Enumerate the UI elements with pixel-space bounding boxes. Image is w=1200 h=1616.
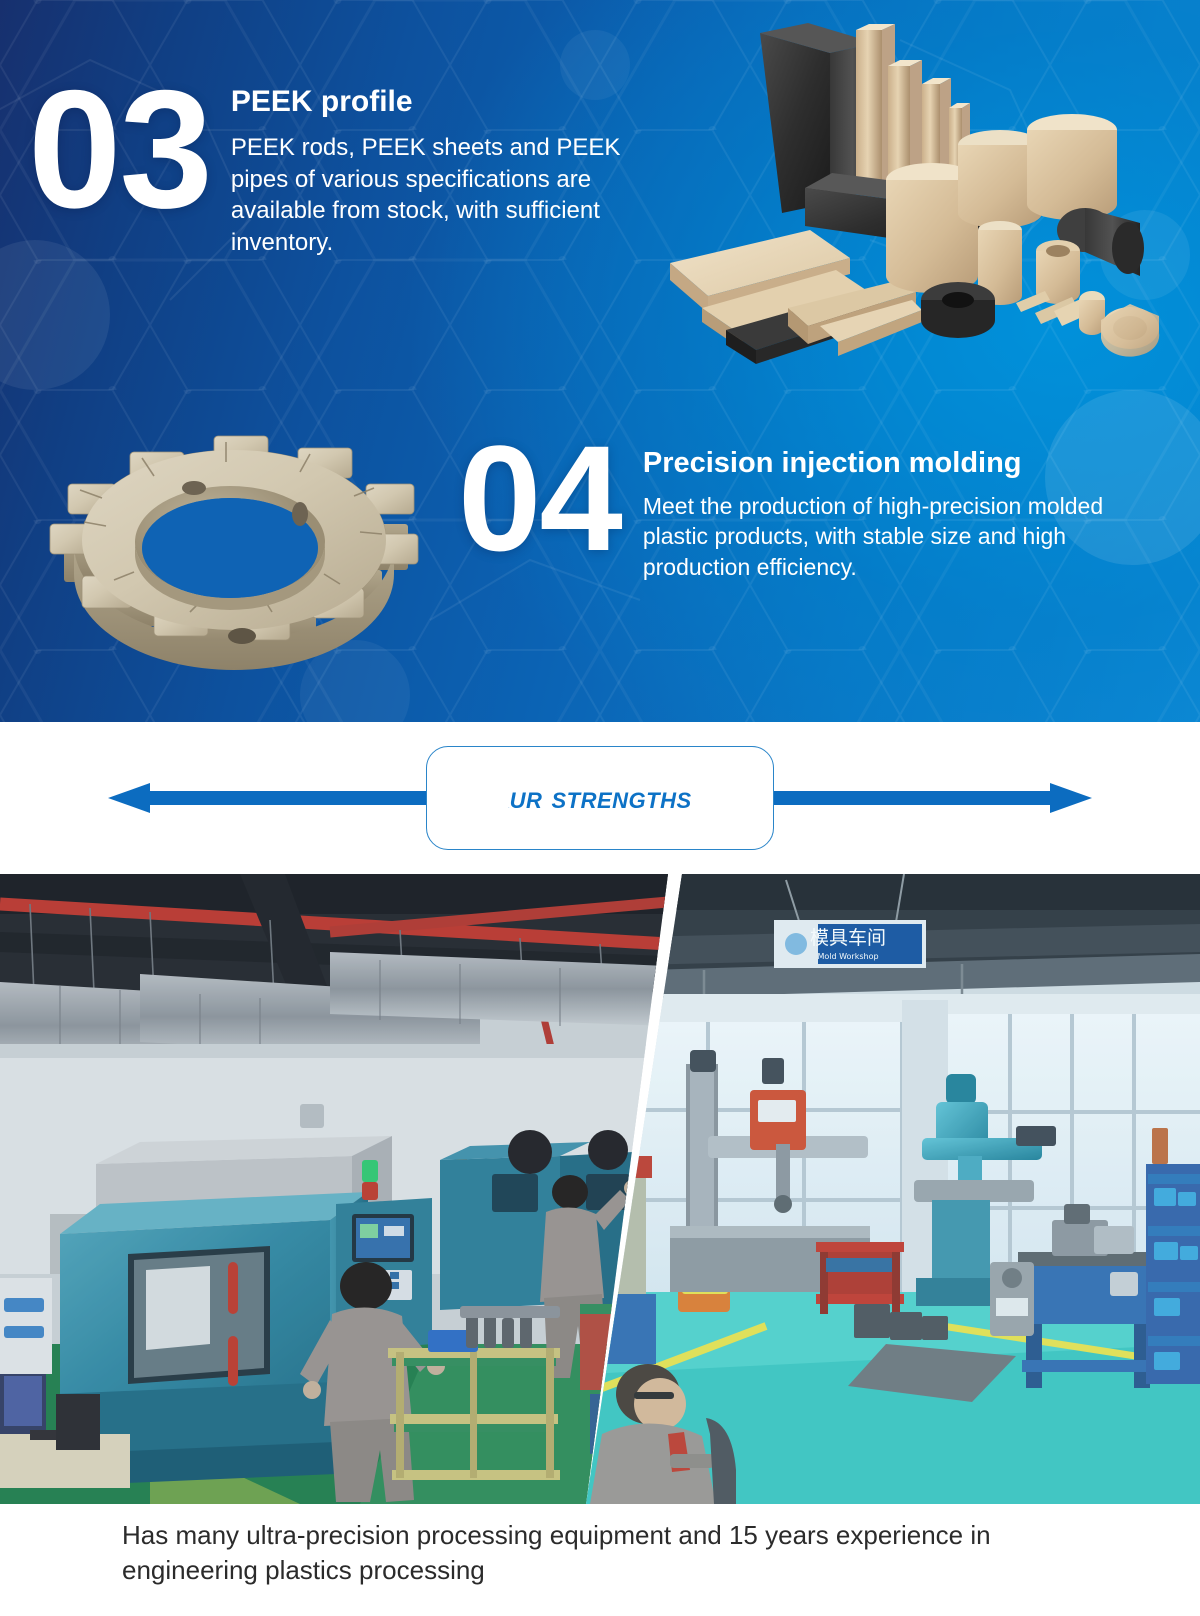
feature-block-03: 03 PEEK profile PEEK rods, PEEK sheets a… [28,76,661,259]
workshop-photo-pair: 模具车间 Mold Workshop [0,874,1200,1504]
hero-section: 03 PEEK profile PEEK rods, PEEK sheets a… [0,0,1200,722]
feature-number-04: 04 [458,432,621,564]
our-strengths-label: Our strengths [508,780,691,816]
feature-title-04: Precision injection molding [643,446,1163,481]
cnc-machining-workshop-photo [0,874,668,1504]
feature-body-04: Meet the production of high-precision mo… [643,491,1163,582]
feature-number-03: 03 [28,76,211,224]
feature-title-03: PEEK profile [231,84,661,120]
peek-profiles-photo [660,8,1200,368]
mold-workshop-photo: 模具车间 Mold Workshop [586,874,1200,1504]
bottom-caption: Has many ultra-precision processing equi… [0,1504,1200,1589]
feature-block-04: 04 Precision injection molding Meet the … [458,432,1163,582]
our-strengths-label-box: Our strengths [426,746,774,850]
our-strengths-banner: Our strengths [0,722,1200,874]
peek-gear-ring-photo [34,400,434,680]
feature-body-03: PEEK rods, PEEK sheets and PEEK pipes of… [231,132,661,259]
